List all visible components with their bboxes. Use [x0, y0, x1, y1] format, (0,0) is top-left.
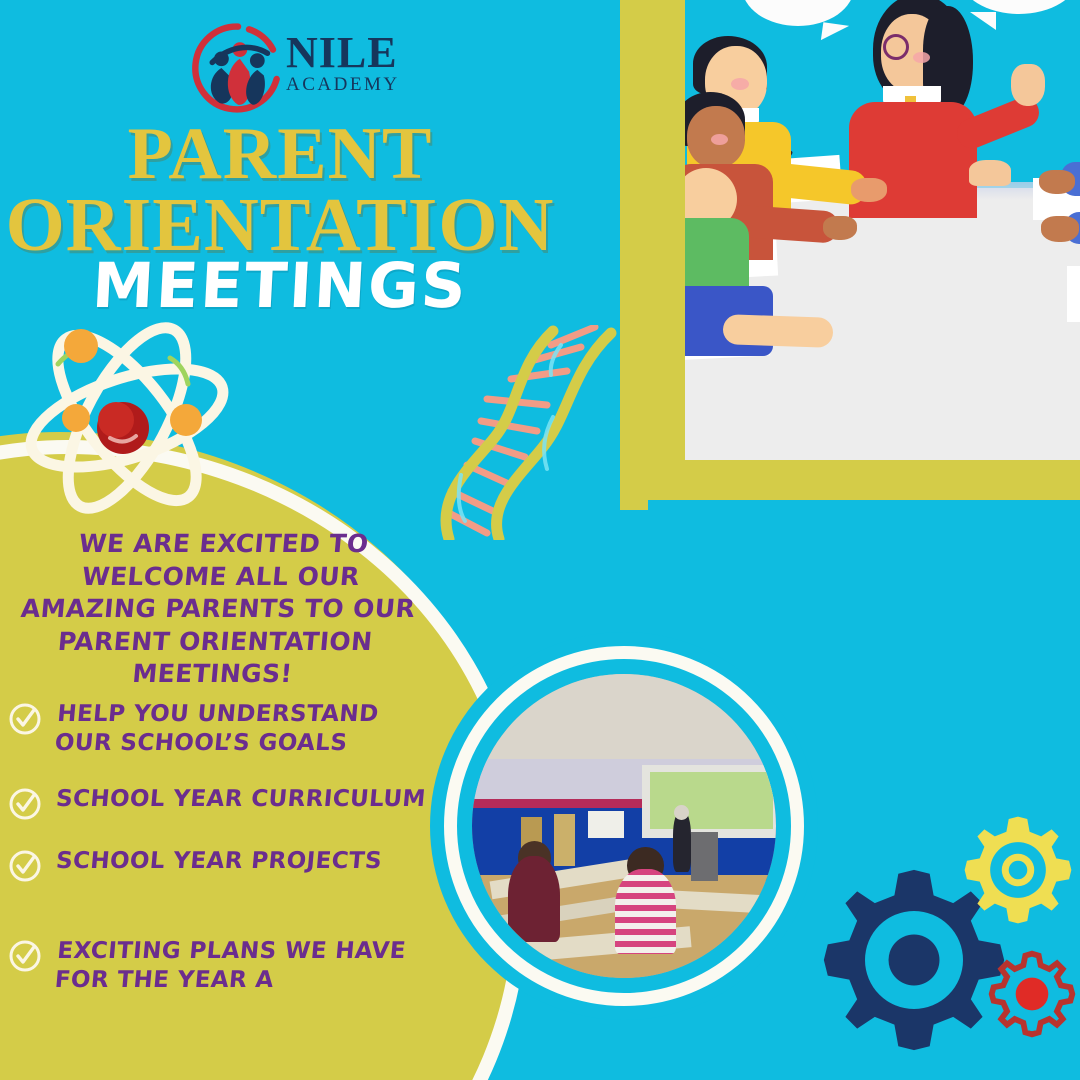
list-item: HELP YOU UNDERSTAND OUR SCHOOL’S GOALS	[8, 700, 428, 759]
school-gym-meeting-photo	[430, 632, 818, 1020]
photo-attendee	[615, 869, 676, 954]
list-item: EXCITING PLANS WE HAVE FOR THE YEAR A	[8, 937, 428, 996]
logo-wordmark: NILE ACADEMY	[286, 32, 400, 96]
intro-paragraph: WE ARE EXCITED TO WELCOME ALL OUR AMAZIN…	[1, 528, 435, 691]
teacher-glasses	[883, 34, 909, 60]
list-item-label: SCHOOL YEAR PROJECTS	[55, 847, 383, 876]
check-circle-icon	[8, 787, 42, 821]
page-title: PARENT ORIENTATION MEETINGS	[0, 120, 560, 317]
title-line-3: MEETINGS	[0, 255, 562, 317]
list-item-label: HELP YOU UNDERSTAND OUR SCHOOL’S GOALS	[53, 700, 430, 759]
teacher-hand-raised	[1011, 64, 1045, 106]
list-item-label: EXCITING PLANS WE HAVE FOR THE YEAR A	[53, 937, 430, 996]
illustration-person-blue-right	[1037, 156, 1080, 276]
check-circle-icon	[8, 702, 42, 736]
logo-subtitle: ACADEMY	[286, 74, 400, 96]
blue-person-hand2	[1041, 216, 1079, 242]
poster-canvas: NILE ACADEMY PARENT ORIENTATION MEETINGS	[0, 0, 1080, 1080]
parent-meeting-illustration	[685, 0, 1080, 460]
teacher-hand-table	[969, 160, 1011, 186]
logo-name: NILE	[286, 32, 400, 74]
nile-academy-logo: NILE ACADEMY	[192, 22, 412, 120]
photo-projection-screen	[642, 765, 776, 838]
blue-person-hand	[1039, 170, 1075, 194]
brown-person-cheek	[711, 134, 728, 145]
photo-image	[472, 674, 776, 978]
check-circle-icon	[8, 939, 42, 973]
list-item: SCHOOL YEAR PROJECTS	[8, 847, 428, 883]
list-item: SCHOOL YEAR CURRICULUM	[8, 785, 428, 821]
benefits-list: HELP YOU UNDERSTAND OUR SCHOOL’S GOALS S…	[8, 700, 428, 1022]
gear-red-icon	[984, 946, 1080, 1042]
title-line-1: PARENT	[0, 120, 560, 190]
illustration-person-green	[685, 160, 835, 350]
gear-yellow-icon	[960, 812, 1076, 928]
logo-mark-icon	[192, 22, 284, 114]
list-item-label: SCHOOL YEAR CURRICULUM	[55, 785, 427, 814]
yellow-person-hand	[851, 178, 887, 202]
dna-helix-icon	[425, 325, 645, 540]
photo-presenter	[673, 811, 691, 872]
photo-whiteboard	[588, 811, 624, 838]
teacher-cheek	[913, 52, 930, 63]
photo-av-cart	[691, 832, 718, 881]
photo-door	[554, 814, 575, 866]
atom-icon	[18, 318, 236, 518]
green-person-arm	[723, 314, 834, 348]
yellow-person-cheek	[731, 78, 749, 90]
check-circle-icon	[8, 849, 42, 883]
photo-attendee	[508, 856, 560, 941]
